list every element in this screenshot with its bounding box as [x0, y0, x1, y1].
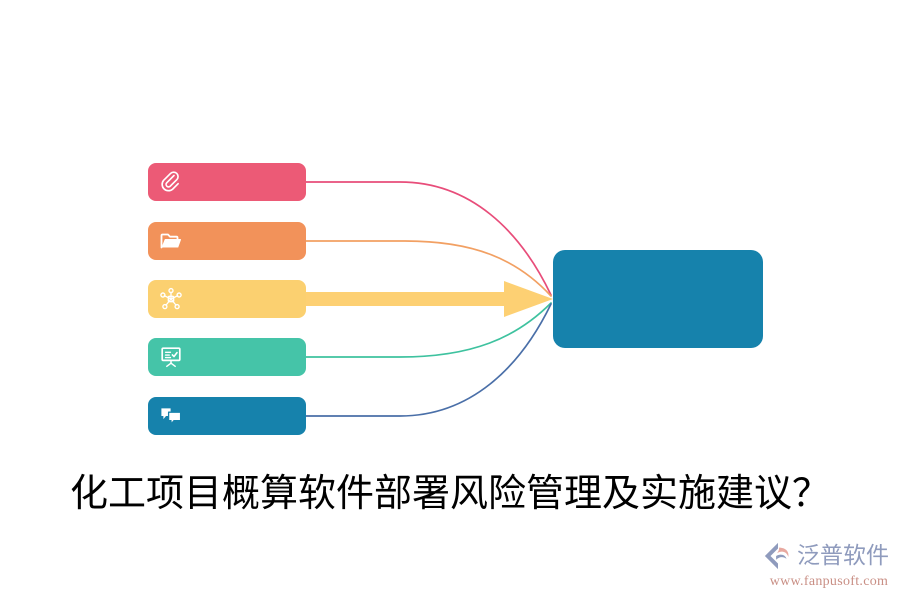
- flow-item-network[interactable]: [148, 280, 306, 318]
- flow-item-presentation[interactable]: [148, 338, 306, 376]
- watermark-row: 泛普软件: [763, 539, 891, 573]
- connector-chat: [306, 304, 551, 416]
- main-arrow: [306, 281, 553, 317]
- flow-item-chat[interactable]: [148, 397, 306, 435]
- watermark: 泛普软件 www.fanpusoft.com: [763, 539, 891, 591]
- paperclip-icon: [159, 170, 183, 194]
- folder-open-icon: [159, 229, 183, 253]
- watermark-brand: 泛普软件: [797, 545, 889, 568]
- watermark-url: www.fanpusoft.com: [763, 574, 891, 590]
- page-title: 化工项目概算软件部署风险管理及实施建议？: [0, 462, 900, 517]
- chat-bubbles-icon: [159, 404, 183, 428]
- fanpu-logo-icon: [763, 541, 793, 571]
- flow-item-folder[interactable]: [148, 222, 306, 260]
- flow-item-attachment[interactable]: [148, 163, 306, 201]
- result-box[interactable]: [553, 250, 763, 348]
- presentation-board-icon: [159, 345, 183, 369]
- network-hub-icon: [159, 287, 183, 311]
- connector-attachment: [306, 182, 551, 295]
- diagram-canvas: 化工项目概算软件部署风险管理及实施建议？ 泛普软件 www.fanpusoft.…: [0, 0, 900, 600]
